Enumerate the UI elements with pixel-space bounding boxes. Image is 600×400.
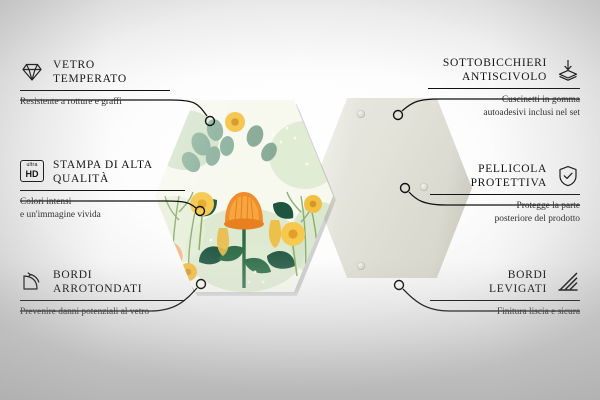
feature-subtitle: Colori intensi e un'immagine vivida [20,196,185,222]
feature-subtitle: Protegge la parte posteriore del prodott… [430,200,580,226]
feature-title: Sottobicchieri antiscivolo [443,56,547,84]
rubber-pad [357,262,365,270]
ultra-hd-top-text: ultra [26,163,37,168]
feature-title: Pellicola protettiva [471,162,547,190]
feature-pellicola-protettiva: Pellicola protettiva Protegge la parte p… [430,162,580,226]
infographic-canvas: Vetro temperato Resistente a rotture e g… [0,0,600,400]
feature-subtitle: Cuscinetti in gomma autoadesivi inclusi … [428,94,580,120]
divider [430,194,580,195]
feature-title: Bordi levigati [489,268,547,296]
shield-check-icon [556,164,580,188]
rounded-corner-icon [20,270,44,294]
divider [430,300,580,301]
diagonal-hatch-icon [556,270,580,294]
feature-title: Vetro temperato [53,58,127,86]
feature-subtitle: Finitura liscia e sicura [430,306,580,319]
diamond-icon [20,60,44,84]
rubber-pad [420,183,428,191]
feature-title: Bordi arrotondati [53,268,142,296]
feature-bordi-levigati: Bordi levigati Finitura liscia e sicura [430,268,580,319]
feature-subtitle: Resistente a rotture e graffi [20,96,170,109]
divider [20,300,185,301]
feature-sottobicchieri-antiscivolo: Sottobicchieri antiscivolo Cuscinetti in… [428,56,580,120]
feature-stampa-alta-qualita: ultra HD Stampa di alta qualità Colori i… [20,158,185,222]
divider [20,90,170,91]
feature-vetro-temperato: Vetro temperato Resistente a rotture e g… [20,58,170,109]
divider [428,88,580,89]
divider [20,190,185,191]
ultra-hd-badge-icon: ultra HD [20,160,44,184]
rubber-pad [357,110,365,118]
feature-subtitle: Prevenire danni potenziali al vetro [20,306,185,319]
feature-title: Stampa di alta qualità [53,158,153,186]
press-pad-arrow-icon [556,58,580,82]
feature-bordi-arrotondati: Bordi arrotondati Prevenire danni potenz… [20,268,185,319]
ultra-hd-bottom-text: HD [26,170,39,179]
